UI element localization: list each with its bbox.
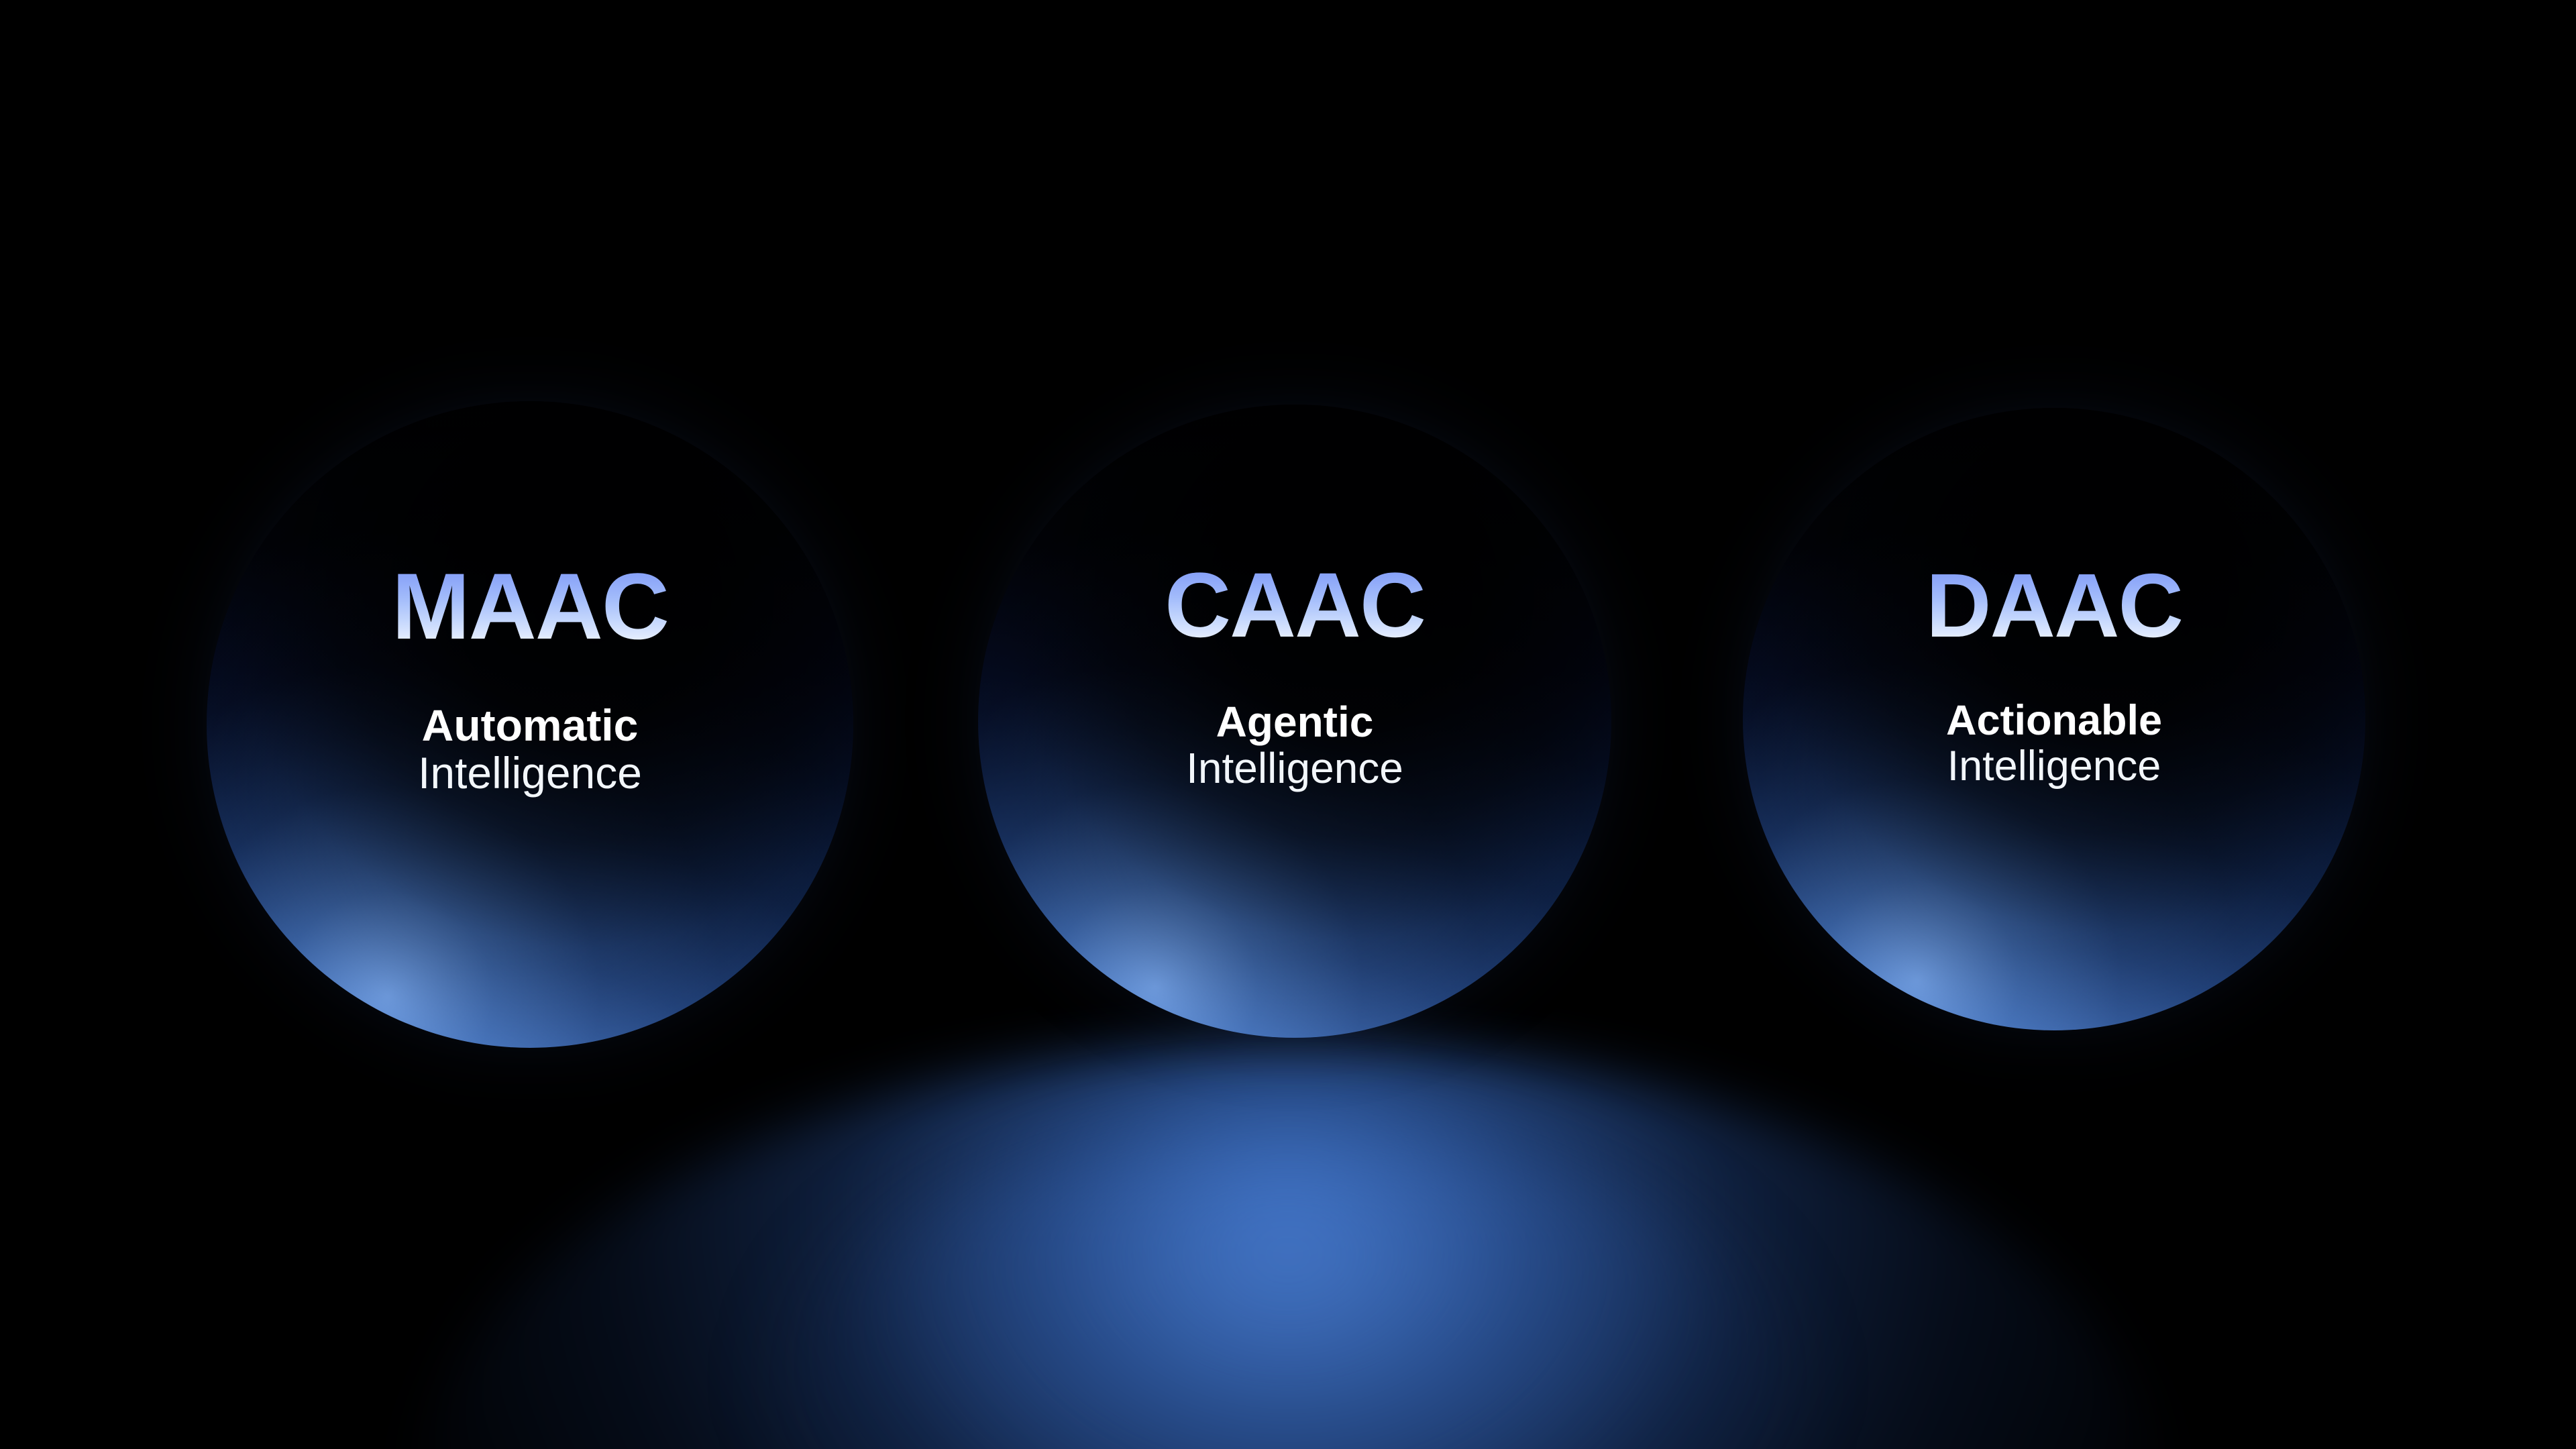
sphere-subtitle-maac: Intelligence	[418, 749, 642, 797]
slide-canvas: MAAC Automatic Intelligence CAAC Agentic…	[0, 0, 2576, 1449]
sphere-label-stack: MAAC Automatic Intelligence	[207, 401, 853, 1048]
sphere-label-stack: CAAC Agentic Intelligence	[978, 405, 1611, 1038]
sphere-title-maac: Automatic	[422, 702, 639, 749]
sphere-row: MAAC Automatic Intelligence CAAC Agentic…	[0, 0, 2576, 1449]
sphere-title-caac: Agentic	[1216, 699, 1374, 745]
floor-glow-primary	[416, 1046, 2160, 1449]
sphere-subtitle-caac: Intelligence	[1186, 745, 1403, 792]
sphere-card-maac[interactable]: MAAC Automatic Intelligence	[207, 401, 853, 1048]
sphere-subtitle-daac: Intelligence	[1947, 743, 2161, 789]
sphere-card-daac[interactable]: DAAC Actionable Intelligence	[1743, 408, 2365, 1030]
sphere-acronym-maac: MAAC	[392, 559, 668, 653]
sphere-title-daac: Actionable	[1946, 698, 2162, 743]
sphere-acronym-caac: CAAC	[1165, 559, 1425, 651]
sphere-card-caac[interactable]: CAAC Agentic Intelligence	[978, 405, 1611, 1038]
floor-glow-secondary	[785, 1127, 1791, 1449]
sphere-label-stack: DAAC Actionable Intelligence	[1743, 408, 2365, 1030]
sphere-acronym-daac: DAAC	[1926, 560, 2182, 651]
